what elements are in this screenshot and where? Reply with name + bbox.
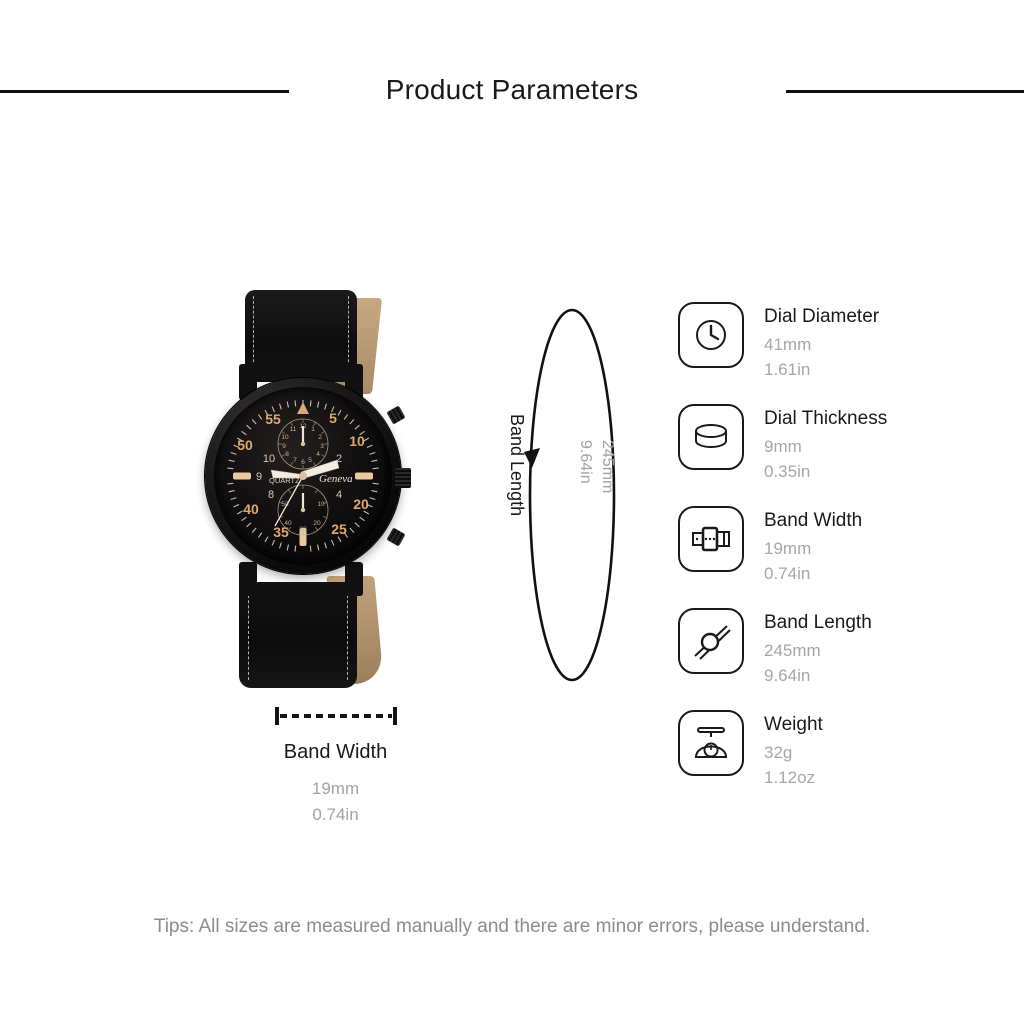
watch-pusher-top — [386, 405, 405, 424]
svg-text:5: 5 — [308, 457, 312, 464]
tips-note: Tips: All sizes are measured manually an… — [0, 916, 1024, 938]
spec-row-dial-thickness: Dial Thickness 9mm 0.35in — [678, 404, 1008, 484]
band-length-icon — [678, 608, 744, 674]
watch-case: 5 10 20 25 35 40 50 55 2 4 — [205, 378, 401, 574]
header-rule-right — [786, 90, 1024, 93]
watch-dial-graphics: 5 10 20 25 35 40 50 55 2 4 — [221, 394, 385, 558]
dial-thickness-icon — [678, 404, 744, 470]
svg-text:55: 55 — [265, 411, 281, 427]
band-width-diagram-title: Band Width — [218, 741, 453, 764]
svg-text:8: 8 — [268, 489, 274, 501]
watch-strap-top — [245, 290, 357, 382]
watch-product-image: 5 10 20 25 35 40 50 55 2 4 — [183, 290, 428, 690]
svg-text:9: 9 — [282, 443, 286, 450]
specifications-list: Dial Diameter 41mm 1.61in Dial Thickness… — [678, 302, 1008, 812]
band-width-diagram-mm: 19mm — [218, 776, 453, 802]
svg-text:11: 11 — [290, 426, 297, 433]
watch-dial: 5 10 20 25 35 40 50 55 2 4 — [221, 394, 385, 558]
product-parameters-page: Product Parameters — [0, 0, 1024, 1024]
svg-text:4: 4 — [336, 489, 342, 501]
spec-row-band-length: Band Length 245mm 9.64in — [678, 608, 1008, 688]
svg-text:20: 20 — [313, 520, 321, 527]
band-length-diagram-values: 245mm 9.64in — [574, 440, 618, 493]
header-rule-left — [0, 90, 289, 93]
weight-scale-icon — [678, 710, 744, 776]
svg-text:4: 4 — [316, 451, 320, 458]
spec-text-dial-diameter: Dial Diameter 41mm 1.61in — [764, 302, 879, 382]
spec-label-dial-diameter: Dial Diameter — [764, 304, 879, 330]
spec-label-band-width: Band Width — [764, 508, 862, 534]
svg-text:10: 10 — [349, 433, 365, 449]
caliper-end-right — [393, 707, 397, 725]
svg-text:8: 8 — [285, 451, 289, 458]
spec-value-imperial-band-width: 0.74in — [764, 561, 862, 586]
svg-text:1: 1 — [311, 426, 315, 433]
svg-text:5: 5 — [329, 410, 337, 426]
watch-pusher-bottom — [386, 527, 405, 546]
band-width-caliper-icon — [275, 705, 397, 727]
band-width-diagram-in: 0.74in — [218, 802, 453, 828]
spec-row-dial-diameter: Dial Diameter 41mm 1.61in — [678, 302, 1008, 382]
caliper-end-left — [275, 707, 279, 725]
watch-lug-bottom-left — [239, 562, 257, 596]
spec-text-weight: Weight 32g 1.12oz — [764, 710, 823, 790]
dial-diameter-icon — [678, 302, 744, 368]
band-length-diagram-mm: 245mm — [596, 440, 618, 493]
spec-text-dial-thickness: Dial Thickness 9mm 0.35in — [764, 404, 887, 484]
spec-value-metric-band-length: 245mm — [764, 638, 872, 663]
page-title: Product Parameters — [300, 68, 724, 112]
spec-text-band-width: Band Width 19mm 0.74in — [764, 506, 862, 586]
spec-value-metric-dial-diameter: 41mm — [764, 332, 879, 357]
page-header: Product Parameters — [0, 68, 1024, 116]
svg-text:10: 10 — [317, 501, 325, 508]
spec-label-dial-thickness: Dial Thickness — [764, 406, 887, 432]
spec-value-imperial-dial-diameter: 1.61in — [764, 357, 879, 382]
spec-label-weight: Weight — [764, 712, 823, 738]
svg-text:30: 30 — [299, 526, 307, 533]
band-length-diagram-in: 9.64in — [574, 440, 596, 493]
svg-text:20: 20 — [353, 496, 369, 512]
dial-brand-text: Geneva — [319, 473, 353, 485]
spec-row-weight: Weight 32g 1.12oz — [678, 710, 1008, 790]
spec-value-imperial-weight: 1.12oz — [764, 765, 823, 790]
svg-text:6: 6 — [301, 459, 305, 466]
watch-lug-bottom-right — [345, 562, 363, 596]
band-length-diagram-label: Band Length — [506, 414, 527, 516]
svg-text:40: 40 — [284, 520, 292, 527]
svg-text:3: 3 — [320, 443, 324, 450]
svg-text:10: 10 — [263, 453, 275, 465]
watch-bezel: 5 10 20 25 35 40 50 55 2 4 — [214, 387, 392, 565]
watch-crown — [395, 468, 411, 488]
spec-label-band-length: Band Length — [764, 610, 872, 636]
spec-value-metric-dial-thickness: 9mm — [764, 434, 887, 459]
svg-text:2: 2 — [318, 434, 322, 441]
band-width-icon — [678, 506, 744, 572]
watch-strap-bottom — [239, 582, 357, 688]
spec-value-imperial-dial-thickness: 0.35in — [764, 459, 887, 484]
svg-text:50: 50 — [237, 437, 253, 453]
spec-text-band-length: Band Length 245mm 9.64in — [764, 608, 872, 688]
svg-text:7: 7 — [293, 457, 297, 464]
svg-text:9: 9 — [256, 471, 262, 483]
spec-value-metric-weight: 32g — [764, 740, 823, 765]
spec-value-metric-band-width: 19mm — [764, 536, 862, 561]
spec-value-imperial-band-length: 9.64in — [764, 663, 872, 688]
svg-text:25: 25 — [331, 521, 347, 537]
svg-text:10: 10 — [281, 434, 289, 441]
spec-row-band-width: Band Width 19mm 0.74in — [678, 506, 1008, 586]
caliper-dashed-line — [280, 714, 392, 718]
svg-text:40: 40 — [243, 501, 259, 517]
band-width-diagram: Band Width 19mm 0.74in — [218, 705, 453, 828]
